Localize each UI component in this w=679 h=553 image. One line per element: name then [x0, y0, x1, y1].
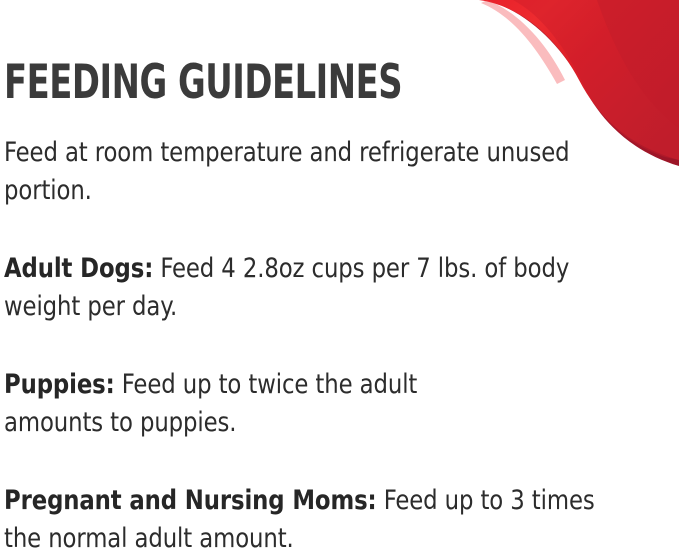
paragraph-pregnant-nursing-moms: Pregnant and Nursing Moms: Feed up to 3 …	[4, 482, 634, 553]
guidelines-content: FEEDING GUIDELINES Feed at room temperat…	[4, 58, 676, 553]
paragraph-puppies-lead: Puppies:	[4, 369, 115, 400]
paragraph-puppies: Puppies: Feed up to twice the adult amou…	[4, 366, 516, 442]
paragraph-pregnant-nursing-moms-lead: Pregnant and Nursing Moms:	[4, 485, 377, 516]
paragraph-adult-dogs: Adult Dogs: Feed 4 2.8oz cups per 7 lbs.…	[4, 250, 623, 326]
paragraph-intro-text: Feed at room temperature and refrigerate…	[4, 137, 570, 206]
feeding-guidelines-panel: FEEDING GUIDELINES Feed at room temperat…	[0, 0, 679, 553]
paragraph-adult-dogs-lead: Adult Dogs:	[4, 253, 153, 284]
paragraph-intro: Feed at room temperature and refrigerate…	[4, 134, 601, 210]
page-title: FEEDING GUIDELINES	[4, 58, 542, 108]
